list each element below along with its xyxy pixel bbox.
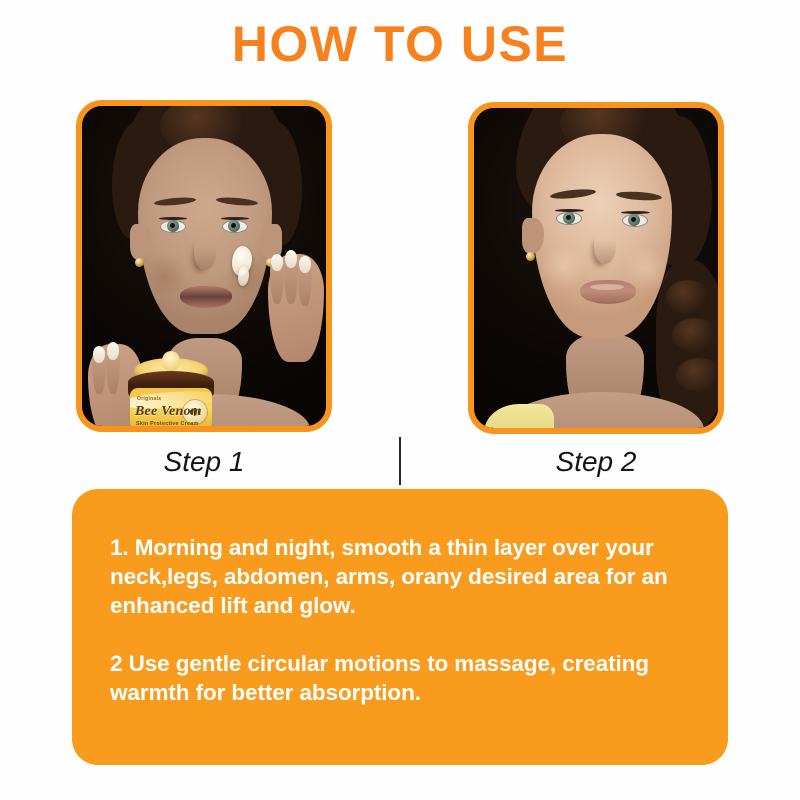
lips [180,286,232,308]
nose [594,230,616,264]
jar-product-subtitle: Skin Protective Cream [136,421,199,426]
pupil-left [170,223,175,228]
jar-brand-text: Originals [137,396,161,402]
step-1-photo-card: Originals Bee Venom Skin Protective Crea… [76,100,332,432]
step-1-photo: Originals Bee Venom Skin Protective Crea… [82,106,326,426]
fingernail-left-1 [93,346,105,363]
step-2-photo-card [468,102,724,434]
cheek-glow-right [624,246,670,292]
eyelash-right [221,217,249,220]
fingernail-left-2 [107,342,119,360]
fingernail-right-3 [299,256,311,273]
cheek-shadow-left [144,254,188,298]
step-1-label: Step 1 [76,446,332,478]
lip-highlight [590,284,624,290]
step-2-label: Step 2 [468,446,724,478]
jar-cream-peak [162,351,180,371]
instructions-panel: 1. Morning and night, smooth a thin laye… [72,489,728,765]
instruction-2: 2 Use gentle circular motions to massage… [110,649,694,707]
product-jar: Originals Bee Venom Skin Protective Crea… [122,358,220,426]
eyelash-left [159,217,187,220]
jar-product-name: Bee Venom [135,404,202,420]
eyelash-left [555,209,584,212]
braid-highlight-1 [666,280,710,314]
braid-highlight-2 [672,318,718,352]
braid-highlight-3 [676,358,718,392]
page-title: HOW TO USE [0,14,800,74]
pupil-right [631,217,636,222]
earring-left [526,252,535,261]
step-divider [399,437,401,485]
step-2-photo [474,108,718,428]
jar-label: Originals Bee Venom Skin Protective Crea… [130,388,212,426]
eyelash-right [621,211,650,214]
instruction-1: 1. Morning and night, smooth a thin laye… [110,533,694,620]
pupil-left [566,215,571,220]
nose [194,236,216,270]
pupil-right [231,223,236,228]
fingernail-right-1 [271,254,283,271]
earring-left [135,258,144,267]
how-to-use-infographic: HOW TO USE [0,0,800,800]
cheek-glow-left [540,244,586,290]
fingernail-right-2 [285,250,297,268]
